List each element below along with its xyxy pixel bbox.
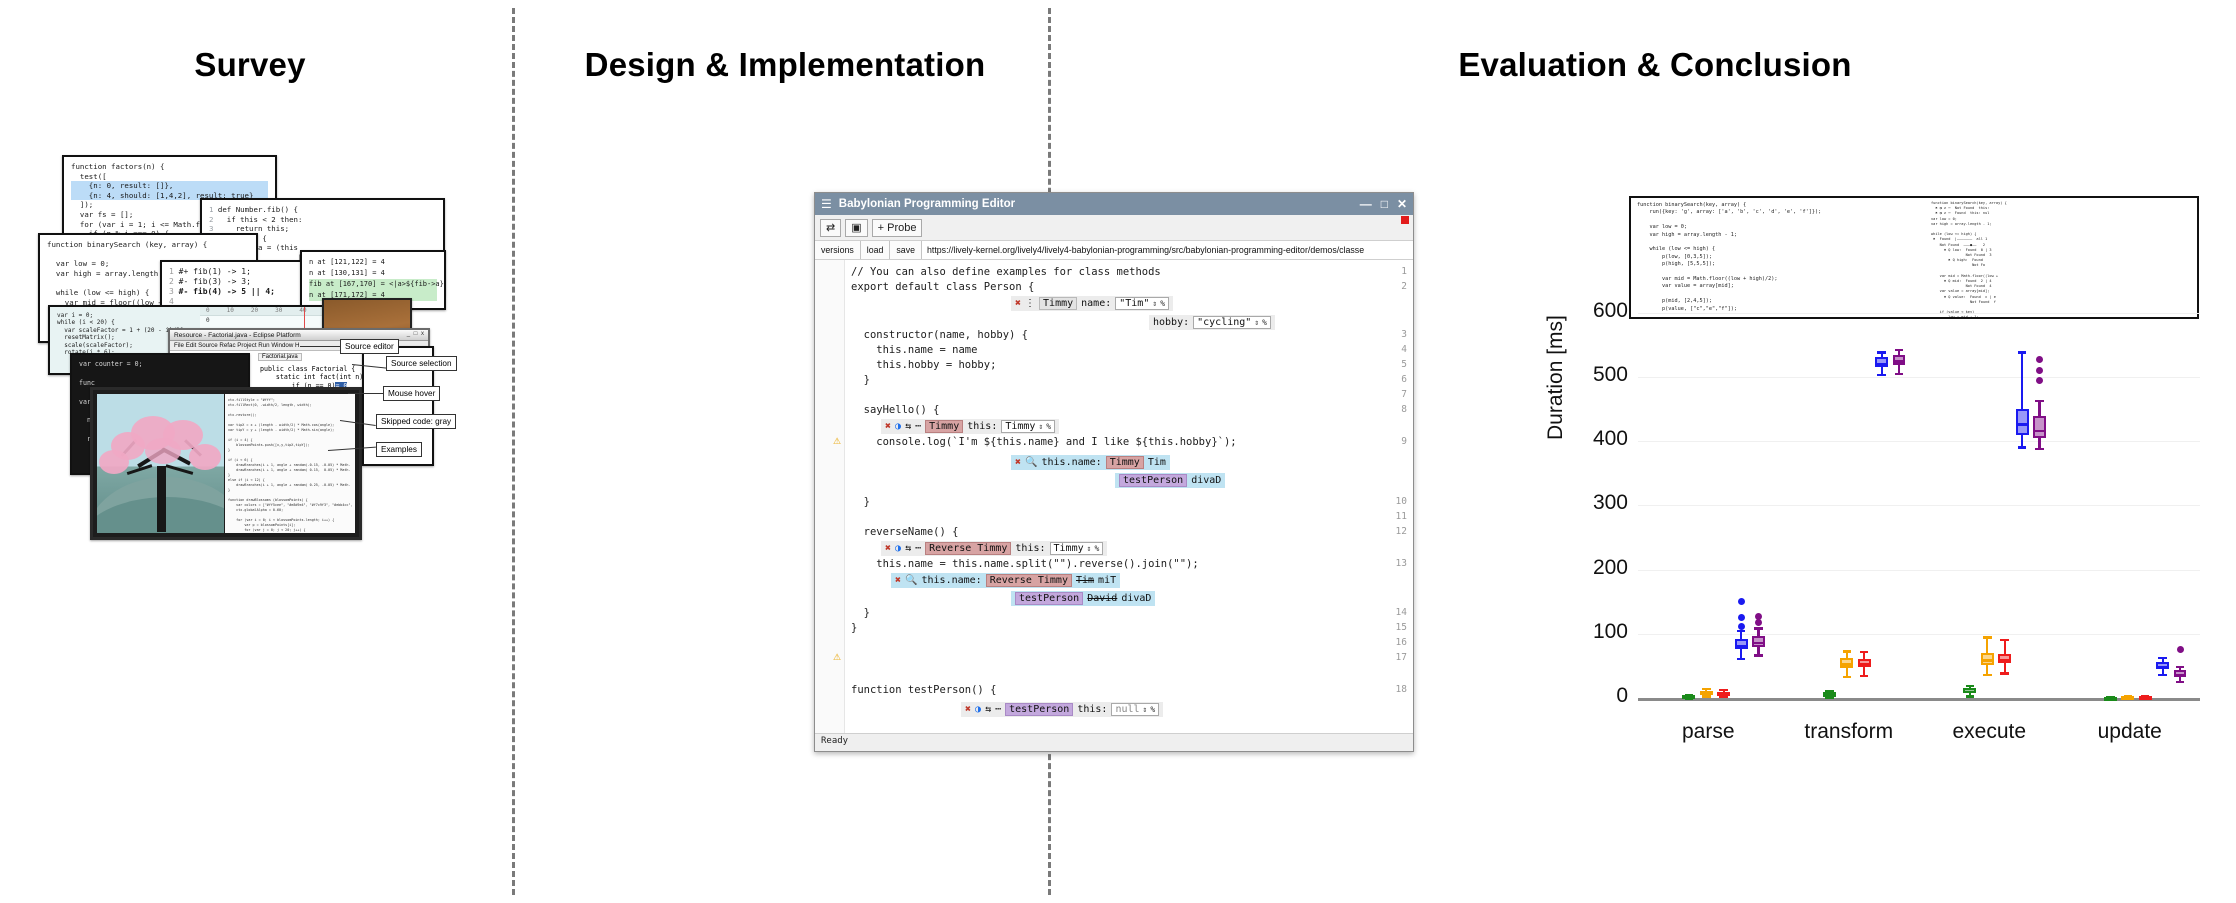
cap-lower xyxy=(1966,695,1975,697)
cap-lower xyxy=(1843,676,1852,678)
window-title: Babylonian Programming Editor xyxy=(839,198,1015,210)
duration-boxplot-chart: Duration [ms] 0100200300400500600 parset… xyxy=(1560,300,2220,770)
tree-branch xyxy=(166,464,194,475)
outlier-point xyxy=(2036,356,2043,363)
cap-upper xyxy=(1843,650,1852,652)
cap-lower xyxy=(1983,674,1992,676)
param-key: hobby: xyxy=(1153,317,1189,328)
this-key: this: xyxy=(1077,704,1107,715)
this-value-input[interactable]: null ⇕ % xyxy=(1111,703,1159,716)
line-number: 10 xyxy=(1396,496,1407,507)
example-name-chip[interactable]: Timmy xyxy=(925,420,963,433)
recording-indicator xyxy=(1401,216,1409,224)
ruler-tick: 10 xyxy=(227,307,234,314)
close-icon[interactable]: ✖ xyxy=(1015,457,1021,468)
result-line: n at [121,122] = 4 xyxy=(309,258,385,266)
callout-source-selection: Source selection xyxy=(386,356,457,371)
y-axis-tick: 400 xyxy=(1566,427,1628,451)
code-line: this.hobby = hobby; xyxy=(851,359,996,371)
link-icon[interactable]: % xyxy=(1150,705,1155,714)
inspect-value: divaD xyxy=(1191,475,1221,486)
minimize-icon[interactable]: — xyxy=(1360,197,1372,211)
cap-lower xyxy=(2018,446,2027,448)
warning-icon[interactable]: ⚠ xyxy=(833,652,841,663)
line-number: 15 xyxy=(1396,622,1407,633)
callout-source-editor: Source editor xyxy=(340,339,399,354)
code-line: function testPerson() { xyxy=(851,684,996,696)
x-axis-tick-transform: transform xyxy=(1779,720,1920,744)
column-divider-1 xyxy=(512,8,515,895)
probe-reversename-inspect[interactable]: ✖ 🔍 this.name: Reverse Timmy Tim miT xyxy=(891,573,1120,588)
cap-upper xyxy=(2018,351,2027,353)
drag-handle-icon[interactable]: ⋮ xyxy=(1025,298,1035,309)
blossom-cluster xyxy=(189,444,221,470)
sakura-canvas xyxy=(97,394,224,533)
add-probe-button[interactable]: + Probe xyxy=(872,219,923,237)
outlier-point xyxy=(1755,613,1762,620)
babylonian-programming-editor-window: ☰ Babylonian Programming Editor — □ ✕ ⇄ … xyxy=(814,192,1414,752)
cap-upper xyxy=(2035,400,2044,402)
survey-screenshot-stack: function factors(n) { test([ {n: 0, resu… xyxy=(0,150,510,750)
x-axis-tick-parse: parse xyxy=(1638,720,1779,744)
probe-class-example[interactable]: ✖ ⋮ Timmy name: "Tim" ⇕ % xyxy=(1011,296,1173,311)
address-bar: versions load save https://lively-kernel… xyxy=(815,241,1413,260)
code-line: let name = prompt("Enter a name"); xyxy=(851,732,1079,733)
column-title-evaluation: Evaluation & Conclusion xyxy=(1080,46,2230,84)
code-line: this.name = this.name.split("").reverse(… xyxy=(851,558,1199,570)
code-line-highlighted: {n: 0, result: []}, xyxy=(71,181,268,191)
cap-upper xyxy=(1966,685,1975,687)
search-icon[interactable]: 🔍 xyxy=(1025,457,1037,468)
value-text: null xyxy=(1115,704,1139,715)
cap-lower xyxy=(1895,373,1904,375)
probe-sayhello-example[interactable]: ✖ ◑ ⇆ ⋯ Timmy this: Timmy ⇕ % xyxy=(881,419,1059,434)
line-number: 19 xyxy=(1396,732,1407,733)
this-value-input[interactable]: Timmy ⇕ % xyxy=(1050,542,1104,555)
outlier-point xyxy=(2177,646,2184,653)
line-number: 2 xyxy=(1401,281,1407,292)
median-line xyxy=(1735,645,1748,647)
code-line: scale(scaleFactor); xyxy=(57,342,133,349)
gridline xyxy=(1638,377,2200,378)
cap-lower xyxy=(1877,374,1886,376)
poster-root: Survey Design & Implementation Evaluatio… xyxy=(0,0,2236,903)
gridline xyxy=(1638,313,2200,314)
cap-upper xyxy=(1737,630,1746,632)
code-line: return this; xyxy=(218,224,289,233)
line-number: 4 xyxy=(1401,344,1407,355)
example-line: #- fib(3) -> 3; xyxy=(179,277,251,286)
line-number: 6 xyxy=(1401,374,1407,385)
link-icon[interactable]: % xyxy=(1094,544,1099,553)
code-line: var fs = []; xyxy=(71,210,133,219)
sync-icon[interactable]: ⇄ xyxy=(820,219,841,237)
callout-examples: Examples xyxy=(376,442,422,457)
line-number: 8 xyxy=(1401,404,1407,415)
param-key: name: xyxy=(1081,298,1111,309)
gridline xyxy=(1638,634,2200,635)
ruler-tick: 40 xyxy=(299,307,306,314)
new-value: divaD xyxy=(1121,593,1151,604)
more-icon[interactable]: ⋯ xyxy=(915,543,921,554)
code-line: constructor(name, hobby) { xyxy=(851,329,1028,341)
link-icon[interactable]: % xyxy=(1046,422,1051,431)
outlier-point xyxy=(1738,623,1745,630)
code-line: export default class Person { xyxy=(851,281,1034,293)
new-value: miT xyxy=(1098,575,1116,586)
code-line: } xyxy=(851,622,857,634)
eclipse-title: Resource - Factorial.java - Eclipse Plat… xyxy=(174,332,301,339)
save-button[interactable]: save xyxy=(890,241,922,259)
median-line xyxy=(1893,360,1906,362)
close-icon[interactable]: ✖ xyxy=(885,421,891,432)
probe-class-example-hobby[interactable]: hobby: "cycling" ⇕ % xyxy=(1149,315,1275,330)
cap-lower xyxy=(1825,697,1834,699)
ruler-tick: 0 xyxy=(206,307,210,314)
stepper-icon[interactable]: ⇕ xyxy=(1087,544,1092,553)
gridline xyxy=(1638,505,2200,506)
code-line: resetMatrix(); xyxy=(57,334,115,341)
cap-upper xyxy=(1983,636,1992,638)
example-name-chip[interactable]: Timmy xyxy=(1039,297,1077,310)
cap-upper xyxy=(1754,627,1763,629)
ruler-tick: 20 xyxy=(251,307,258,314)
cap-lower xyxy=(1702,695,1711,697)
code-line: func xyxy=(79,379,95,387)
line-number: 18 xyxy=(1396,684,1407,695)
cap-lower xyxy=(1860,675,1869,677)
cap-lower xyxy=(1719,696,1728,698)
code-line: } xyxy=(851,374,870,386)
param-value-input[interactable]: "cycling" ⇕ % xyxy=(1193,316,1271,329)
line-number: 12 xyxy=(1396,526,1407,537)
window-titlebar: ☰ Babylonian Programming Editor — □ ✕ xyxy=(815,193,1413,215)
y-axis-tick: 300 xyxy=(1566,491,1628,515)
y-axis-tick: 600 xyxy=(1566,299,1628,323)
code-line: while (i < 20) { xyxy=(57,319,115,326)
code-line: function factors(n) { xyxy=(71,162,164,171)
callout-leader xyxy=(348,393,384,394)
box-iqr xyxy=(2016,409,2029,435)
line-number: 5 xyxy=(1401,359,1407,370)
code-line: this.name = name xyxy=(851,344,977,356)
code-line: // You can also define examples for clas… xyxy=(851,266,1161,278)
code-line: var low = 0; xyxy=(47,259,109,268)
median-line xyxy=(2139,697,2152,699)
tree-trunk xyxy=(157,466,166,532)
sync-icon[interactable]: ⇆ xyxy=(905,421,911,432)
callout-mouse-hover: Mouse hover xyxy=(383,386,440,401)
line-number: 9 xyxy=(1401,436,1407,447)
value-text: "Tim" xyxy=(1119,298,1149,309)
blossom-cluster xyxy=(145,438,181,464)
eclipse-window-buttons[interactable]: _ □ x xyxy=(407,331,425,337)
median-line xyxy=(1700,693,1713,695)
example-name-chip[interactable]: Timmy xyxy=(1106,456,1144,469)
code-line: if this < 2 then: xyxy=(218,215,303,224)
code-line: ]); xyxy=(71,200,93,209)
cap-upper xyxy=(1895,349,1904,351)
link-icon[interactable]: % xyxy=(1262,318,1267,327)
status-bar: Ready xyxy=(815,733,1413,751)
code-line: } xyxy=(851,607,870,619)
median-line xyxy=(1682,696,1695,698)
example-name-chip[interactable]: Reverse Timmy xyxy=(986,574,1072,587)
value-text: Timmy xyxy=(1005,421,1035,432)
cap-lower xyxy=(1754,654,1763,656)
y-axis-tick: 200 xyxy=(1566,556,1628,580)
code-line: reverseName() { xyxy=(851,526,958,538)
old-value: David xyxy=(1087,593,1117,604)
line-number: 1 xyxy=(1401,266,1407,277)
maximize-icon[interactable]: □ xyxy=(1381,197,1388,211)
result-line: n at [130,131] = 4 xyxy=(309,269,385,277)
ruler-tick: 30 xyxy=(275,307,282,314)
stepper-icon[interactable]: ⇕ xyxy=(1254,318,1259,327)
median-line xyxy=(2174,674,2187,676)
value-text: Timmy xyxy=(1054,543,1084,554)
value-text: "cycling" xyxy=(1197,317,1251,328)
median-line xyxy=(1875,363,1888,365)
cap-upper xyxy=(2000,639,2009,641)
gridline xyxy=(1638,441,2200,442)
toggle-icon[interactable]: ◑ xyxy=(895,543,901,554)
y-axis-label: Duration [ms] xyxy=(1544,315,1568,440)
cap-upper xyxy=(2158,657,2167,659)
cap-lower xyxy=(2035,448,2044,450)
cap-upper xyxy=(2176,666,2185,668)
this-value-input[interactable]: Timmy ⇕ % xyxy=(1001,420,1055,433)
blossom-cluster xyxy=(99,450,129,474)
code-line: console.log(`I'm ${this.name} and I like… xyxy=(851,436,1237,448)
line-number: 16 xyxy=(1396,637,1407,648)
cap-upper xyxy=(1702,688,1711,690)
code-line: def Number.fib() { xyxy=(218,205,298,214)
code-line: public class Factorial { xyxy=(260,365,355,373)
median-line xyxy=(1963,691,1976,693)
cap-upper xyxy=(1877,351,1886,353)
close-icon[interactable]: ✖ xyxy=(965,704,971,715)
code-line: var i = 0; xyxy=(57,312,93,319)
cap-lower xyxy=(2158,674,2167,676)
code-line: function binarySearch (key, array) { xyxy=(47,240,207,249)
code-line: } xyxy=(851,496,870,508)
load-button[interactable]: load xyxy=(861,241,891,259)
sync-icon[interactable]: ⇆ xyxy=(905,543,911,554)
example-name-chip[interactable]: testPerson xyxy=(1119,474,1187,487)
code-line: static int fact(int n) { xyxy=(260,373,371,381)
column-title-survey: Survey xyxy=(0,46,500,84)
close-icon[interactable]: ✖ xyxy=(895,575,901,586)
median-line xyxy=(1752,642,1765,644)
this-key: this: xyxy=(1015,543,1045,554)
versions-button[interactable]: versions xyxy=(815,241,861,259)
stepper-icon[interactable]: ⇕ xyxy=(1152,299,1157,308)
y-axis-tick: 500 xyxy=(1566,363,1628,387)
median-line xyxy=(1981,659,1994,661)
x-axis-tick-update: update xyxy=(2060,720,2201,744)
stepper-icon[interactable]: ⇕ xyxy=(1143,705,1148,714)
link-icon[interactable]: % xyxy=(1160,299,1165,308)
outlier-point xyxy=(2036,377,2043,384)
line-number: 11 xyxy=(1396,511,1407,522)
window-controls: — □ ✕ xyxy=(1360,193,1407,215)
outlier-point xyxy=(1738,598,1745,605)
median-line xyxy=(1823,694,1836,696)
line-number: 17 xyxy=(1396,652,1407,663)
old-value: Tim xyxy=(1076,575,1094,586)
code-line: var counter = 0; xyxy=(79,360,143,368)
code-line: test([ xyxy=(71,172,107,181)
cap-lower xyxy=(1737,658,1746,660)
median-line xyxy=(1998,659,2011,661)
example-line-active: #- fib(4) -> 5 || 4; xyxy=(179,287,275,296)
toggle-icon[interactable]: ◑ xyxy=(975,704,981,715)
probe-reversename-inspect-row2[interactable]: testPerson David divaD xyxy=(1011,591,1155,606)
stepper-icon[interactable]: ⇕ xyxy=(1038,422,1043,431)
example-name-chip[interactable]: testPerson xyxy=(1015,592,1083,605)
toggle-icon[interactable]: ◑ xyxy=(895,421,901,432)
gridline xyxy=(1638,570,2200,571)
hamburger-icon[interactable]: ☰ xyxy=(821,197,832,211)
x-axis-tick-execute: execute xyxy=(1919,720,2060,744)
median-line xyxy=(1840,663,1853,665)
search-icon[interactable]: 🔍 xyxy=(905,575,917,586)
line-number: 14 xyxy=(1396,607,1407,618)
y-axis-tick: 100 xyxy=(1566,620,1628,644)
line-number: 13 xyxy=(1396,558,1407,569)
code-line: sayHello() { xyxy=(851,404,940,416)
code-line: while (low <= high) { xyxy=(47,288,149,297)
column-title-design: Design & Implementation xyxy=(530,46,1040,84)
probe-testperson-example[interactable]: ✖ ◑ ⇆ ⋯ testPerson this: null ⇕ % xyxy=(961,702,1163,717)
outlier-point xyxy=(1738,614,1745,621)
more-icon[interactable]: ⋯ xyxy=(915,421,921,432)
code-editor[interactable]: 1 2 3 4 5 6 7 8 9 ⚠ 10 11 12 13 14 15 16… xyxy=(815,260,1413,733)
probe-reversename-example[interactable]: ✖ ◑ ⇆ ⋯ Reverse Timmy this: Timmy ⇕ % xyxy=(881,541,1107,556)
more-icon[interactable]: ⋯ xyxy=(995,704,1001,715)
median-line xyxy=(1858,663,1871,665)
close-icon[interactable]: ✖ xyxy=(885,543,891,554)
example-name-chip[interactable]: testPerson xyxy=(1005,703,1073,716)
screenshot-sakura-notebook: ctx.fillStyle = "#fff"; ctx.fillRect(0, … xyxy=(90,387,362,540)
result-line-highlighted: fib at [167,170] = <|a>${fib->a}fib|> xyxy=(309,279,437,290)
cap-upper xyxy=(1860,651,1869,653)
median-line xyxy=(2016,423,2029,425)
callout-leader xyxy=(300,346,342,347)
outlier-point xyxy=(2036,367,2043,374)
box-iqr xyxy=(2033,416,2046,438)
example-name-chip[interactable]: Reverse Timmy xyxy=(925,542,1011,555)
example-line: #+ fib(1) -> 1; xyxy=(179,267,251,276)
frame-icon[interactable]: ▣ xyxy=(845,219,867,237)
probe-sayhello-inspect-row2[interactable]: testPerson divaD xyxy=(1115,473,1225,488)
cap-lower xyxy=(2176,681,2185,683)
median-line xyxy=(2121,697,2134,699)
param-value-input[interactable]: "Tim" ⇕ % xyxy=(1115,297,1169,310)
line-number: 7 xyxy=(1401,389,1407,400)
this-key: this: xyxy=(967,421,997,432)
median-line xyxy=(2104,697,2117,699)
y-axis-tick: 0 xyxy=(1566,684,1628,708)
inspect-label: this.name: xyxy=(921,575,981,586)
editor-toolbar: ⇄ ▣ + Probe xyxy=(815,215,1413,241)
sync-icon[interactable]: ⇆ xyxy=(985,704,991,715)
inspect-label: this.name: xyxy=(1041,457,1101,468)
inspect-value: Tim xyxy=(1148,457,1166,468)
warning-icon[interactable]: ⚠ xyxy=(833,436,841,447)
median-line xyxy=(2033,430,2046,432)
cap-lower xyxy=(2000,672,2009,674)
close-icon[interactable]: ✖ xyxy=(1015,298,1021,309)
probe-sayhello-inspect[interactable]: ✖ 🔍 this.name: Timmy Tim xyxy=(1011,455,1170,470)
url-input[interactable]: https://lively-kernel.org/lively4/lively… xyxy=(922,241,1413,259)
close-icon[interactable]: ✕ xyxy=(1397,197,1407,211)
line-number: 3 xyxy=(1401,329,1407,340)
median-line xyxy=(2156,666,2169,668)
callout-skipped-code: Skipped code: gray xyxy=(376,414,456,429)
eclipse-file-tab[interactable]: Factorial.java xyxy=(258,353,302,361)
sakura-source-code: ctx.fillStyle = "#fff"; ctx.fillRect(0, … xyxy=(225,394,355,533)
median-line xyxy=(1717,694,1730,696)
